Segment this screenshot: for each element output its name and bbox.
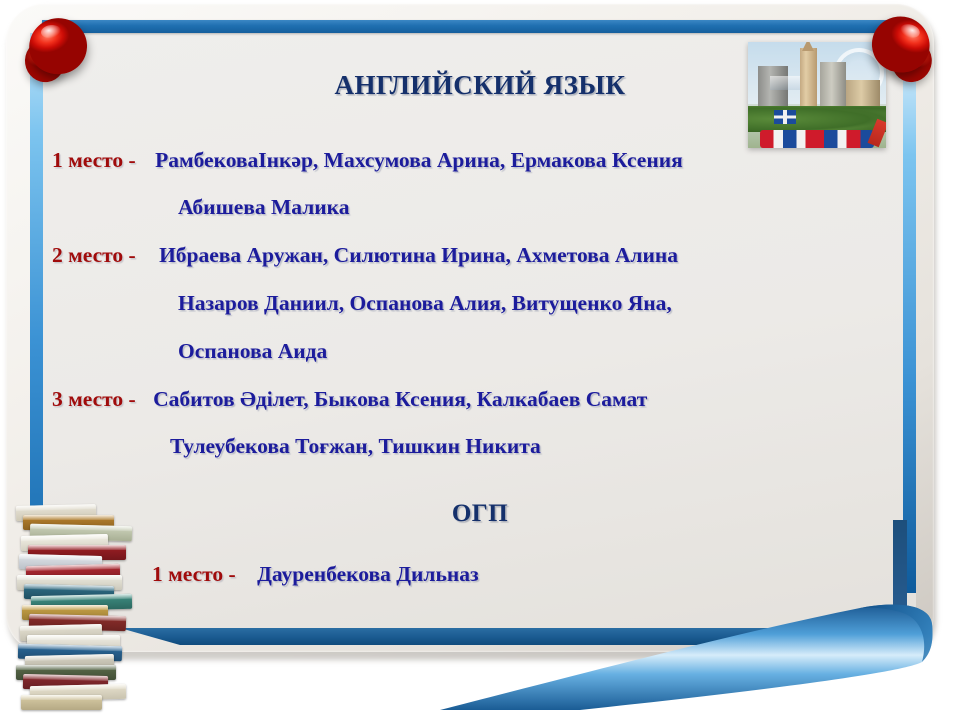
ogp-names-line-1-0: Дауренбекова Дильназ: [257, 562, 479, 586]
book-stack-image: [6, 505, 136, 710]
page-title: АНГЛИЙСКИЙ ЯЗЫК: [0, 70, 960, 101]
place-label-1: 1 место -: [52, 148, 136, 172]
border-bar-top: [42, 20, 914, 33]
names-row-3-1: Тулеубекова Тоғжан, Тишкин Никита: [170, 434, 541, 459]
names-line-2-1: Назаров Даниил, Оспанова Алия, Витущенко…: [178, 291, 672, 315]
names-line-1-0: РамбековаІнкәр, Махсумова Арина, Ермаков…: [155, 148, 683, 172]
section-title-ogp: ОГП: [0, 500, 960, 528]
book-item: [21, 695, 102, 710]
names-row-2-2: Оспанова Аида: [178, 339, 327, 364]
slide-canvas: АНГЛИЙСКИЙ ЯЗЫК 1 место - РамбековаІнкәр…: [0, 0, 960, 720]
place-label-2: 2 место -: [52, 243, 136, 267]
border-bar-right-lower: [893, 520, 907, 638]
result-row-ogp-1: 1 место - Дауренбекова Дильназ: [152, 562, 479, 587]
result-row-place-1: 1 место - РамбековаІнкәр, Махсумова Арин…: [52, 148, 683, 173]
names-line-2-0: Ибраева Аружан, Силютина Ирина, Ахметова…: [159, 243, 678, 267]
names-row-1-1: Абишева Малика: [178, 195, 350, 220]
names-row-2-1: Назаров Даниил, Оспанова Алия, Витущенко…: [178, 291, 672, 316]
result-row-place-2: 2 место - Ибраева Аружан, Силютина Ирина…: [52, 243, 678, 268]
names-line-3-0: Сабитов Әділет, Быкова Ксения, Калкабаев…: [153, 387, 647, 411]
names-line-2-2: Оспанова Аида: [178, 339, 327, 363]
result-row-place-3: 3 место - Сабитов Әділет, Быкова Ксения,…: [52, 387, 647, 412]
names-line-1-1: Абишева Малика: [178, 195, 350, 219]
place-label-3: 3 место -: [52, 387, 136, 411]
ogp-place-label-1: 1 место -: [152, 562, 236, 586]
names-line-3-1: Тулеубекова Тоғжан, Тишкин Никита: [170, 434, 541, 458]
